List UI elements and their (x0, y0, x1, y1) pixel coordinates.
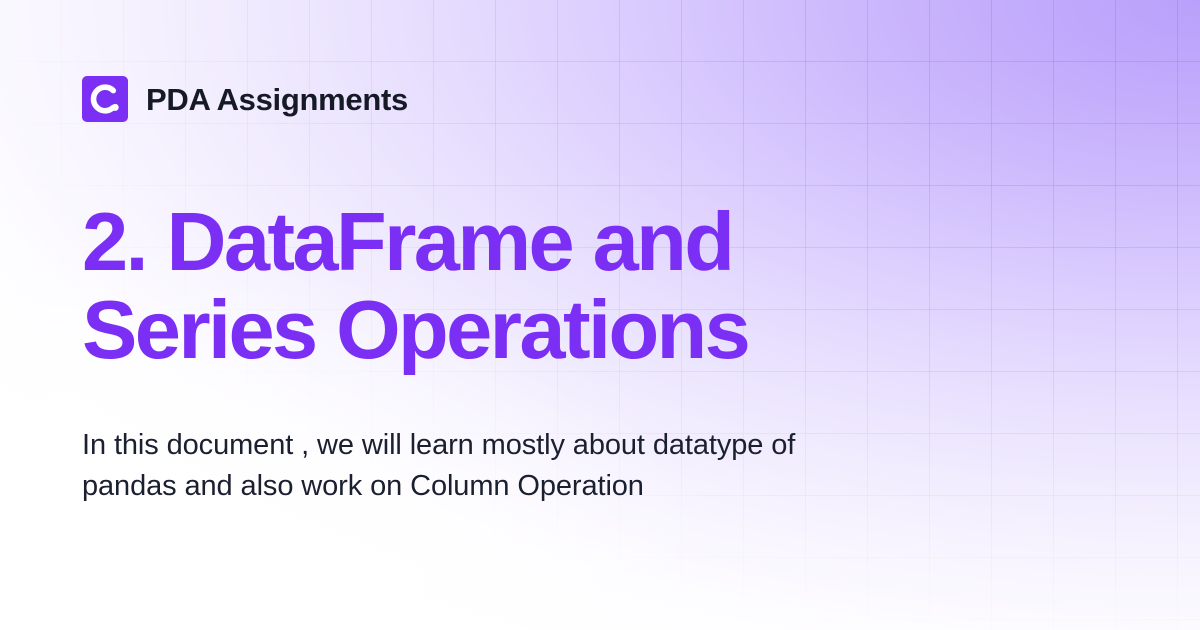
brand-name: PDA Assignments (146, 84, 408, 115)
page-description: In this document , we will learn mostly … (82, 425, 872, 507)
cover-canvas: PDA Assignments 2. DataFrame and Series … (0, 0, 1200, 630)
cover-content: PDA Assignments 2. DataFrame and Series … (82, 0, 1122, 630)
c-dot-logo-icon (82, 76, 128, 122)
page-title: 2. DataFrame and Series Operations (82, 198, 942, 374)
brand-lockup: PDA Assignments (82, 76, 408, 122)
